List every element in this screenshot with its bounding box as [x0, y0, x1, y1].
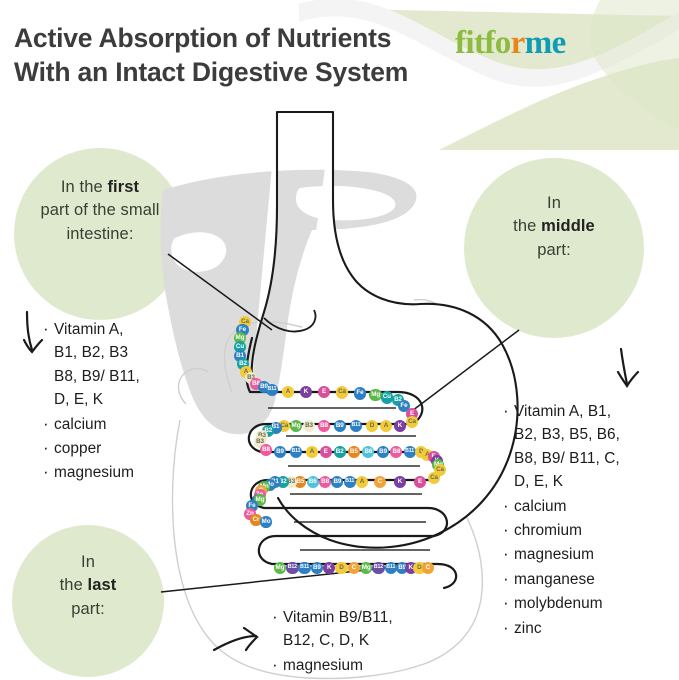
list-item: Vitamin A, B1, B2, B3, B5, B6, B8, B9/ B…: [503, 400, 673, 494]
list-items-middle: Vitamin A, B1, B2, B3, B5, B6, B8, B9/ B…: [503, 400, 673, 640]
nutrient-badge: A: [356, 476, 368, 488]
nutrient-badge: Mg: [369, 389, 382, 402]
nutrient-badge: Mo: [260, 516, 272, 528]
down-arrow-middle-icon: [618, 349, 638, 386]
list-item: calcium: [503, 495, 673, 518]
list-items-last: Vitamin B9/B11, B12, C, D, Kmagnesium: [272, 606, 472, 677]
nutrient-badge: A: [306, 446, 318, 458]
nutrient-badge: B11: [344, 476, 356, 488]
nutrient-badge: B5: [348, 446, 360, 458]
list-item: molybdenum: [503, 592, 673, 615]
nutrient-badge: B2: [334, 446, 346, 458]
nutrient-list-first: Vitamin A, B1, B2, B3 B8, B9/ B11, D, E,…: [43, 318, 193, 486]
nutrient-badge: B8: [260, 444, 272, 456]
list-item: Vitamin A, B1, B2, B3 B8, B9/ B11, D, E,…: [43, 318, 193, 412]
nutrient-badge: Ca: [336, 386, 349, 399]
nutrient-badge: B6: [307, 476, 319, 488]
list-item: calcium: [43, 413, 193, 436]
nutrient-badge: Ca: [428, 472, 440, 484]
nutrient-list-middle: Vitamin A, B1, B2, B3, B5, B6, B8, B9/ B…: [503, 400, 673, 641]
list-item: Vitamin B9/B11, B12, C, D, K: [272, 606, 472, 653]
list-item: magnesium: [503, 543, 673, 566]
nutrient-badge: B8: [318, 420, 330, 432]
brand-logo: fitforme: [455, 25, 566, 62]
nutrient-badge: B9: [274, 446, 286, 458]
nutrient-badge: B11: [404, 446, 416, 458]
infographic-root: CaFeMgCuB1B2AB3B8B9B11AKECaFeMgCuB2FeECa…: [0, 0, 679, 680]
list-item: magnesium: [43, 461, 193, 484]
nutrient-badge: K: [394, 420, 406, 432]
nutrient-badge: B8: [319, 476, 331, 488]
nutrient-badge: B9: [377, 446, 389, 458]
page-title: Active Absorption of Nutrients With an I…: [14, 22, 434, 89]
nutrient-badge: B12: [372, 562, 385, 575]
list-item: chromium: [503, 519, 673, 542]
nutrient-badge: B11: [290, 446, 302, 458]
nutrient-badge: C: [374, 476, 386, 488]
nutrient-badge: E: [414, 476, 426, 488]
bubble-label-middle: Inthe middlepart:: [464, 192, 644, 262]
logo-part-green: fitfo: [455, 25, 511, 61]
list-item: copper: [43, 437, 193, 460]
nutrient-badge: D: [366, 420, 378, 432]
nutrient-badge: A: [380, 420, 392, 432]
nutrient-badge: B12: [286, 562, 299, 575]
list-item: zinc: [503, 617, 673, 640]
nutrient-badge: E: [320, 446, 332, 458]
nutrient-badge: Ca: [406, 416, 418, 428]
nutrient-badge: Fe: [354, 387, 367, 400]
bubble-label-last: Inthe lastpart:: [12, 551, 164, 621]
bubble-label-first: In the firstpart of the smallintestine:: [14, 176, 186, 246]
nutrient-badge: B11: [350, 420, 362, 432]
logo-part-orange: r: [511, 25, 525, 61]
nutrient-badge: D: [335, 562, 348, 575]
list-item: manganese: [503, 568, 673, 591]
list-items-first: Vitamin A, B1, B2, B3 B8, B9/ B11, D, E,…: [43, 318, 193, 485]
down-arrow-first-icon: [24, 312, 42, 352]
list-item: magnesium: [272, 654, 472, 677]
nutrient-list-last: Vitamin B9/B11, B12, C, D, Kmagnesium: [272, 606, 472, 678]
curved-right-arrow-last-icon: [214, 628, 257, 650]
nutrient-badge: K: [394, 476, 406, 488]
nutrient-badge: B3: [303, 420, 315, 432]
nutrient-badge: B9: [334, 420, 346, 432]
logo-part-teal: me: [525, 25, 566, 61]
nutrient-badge: B11: [298, 562, 311, 575]
nutrient-badge: Mg: [290, 420, 302, 432]
